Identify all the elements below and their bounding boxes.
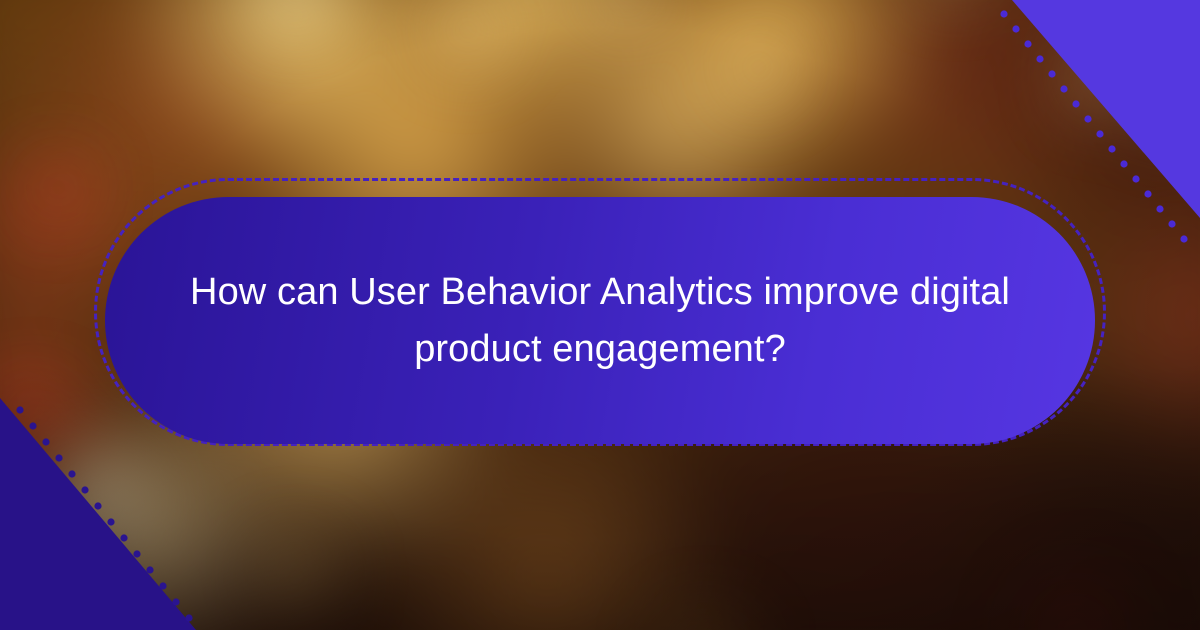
headline-text: How can User Behavior Analytics improve …: [190, 264, 1010, 378]
headline-card: How can User Behavior Analytics improve …: [105, 197, 1095, 444]
social-card-canvas: How can User Behavior Analytics improve …: [0, 0, 1200, 630]
